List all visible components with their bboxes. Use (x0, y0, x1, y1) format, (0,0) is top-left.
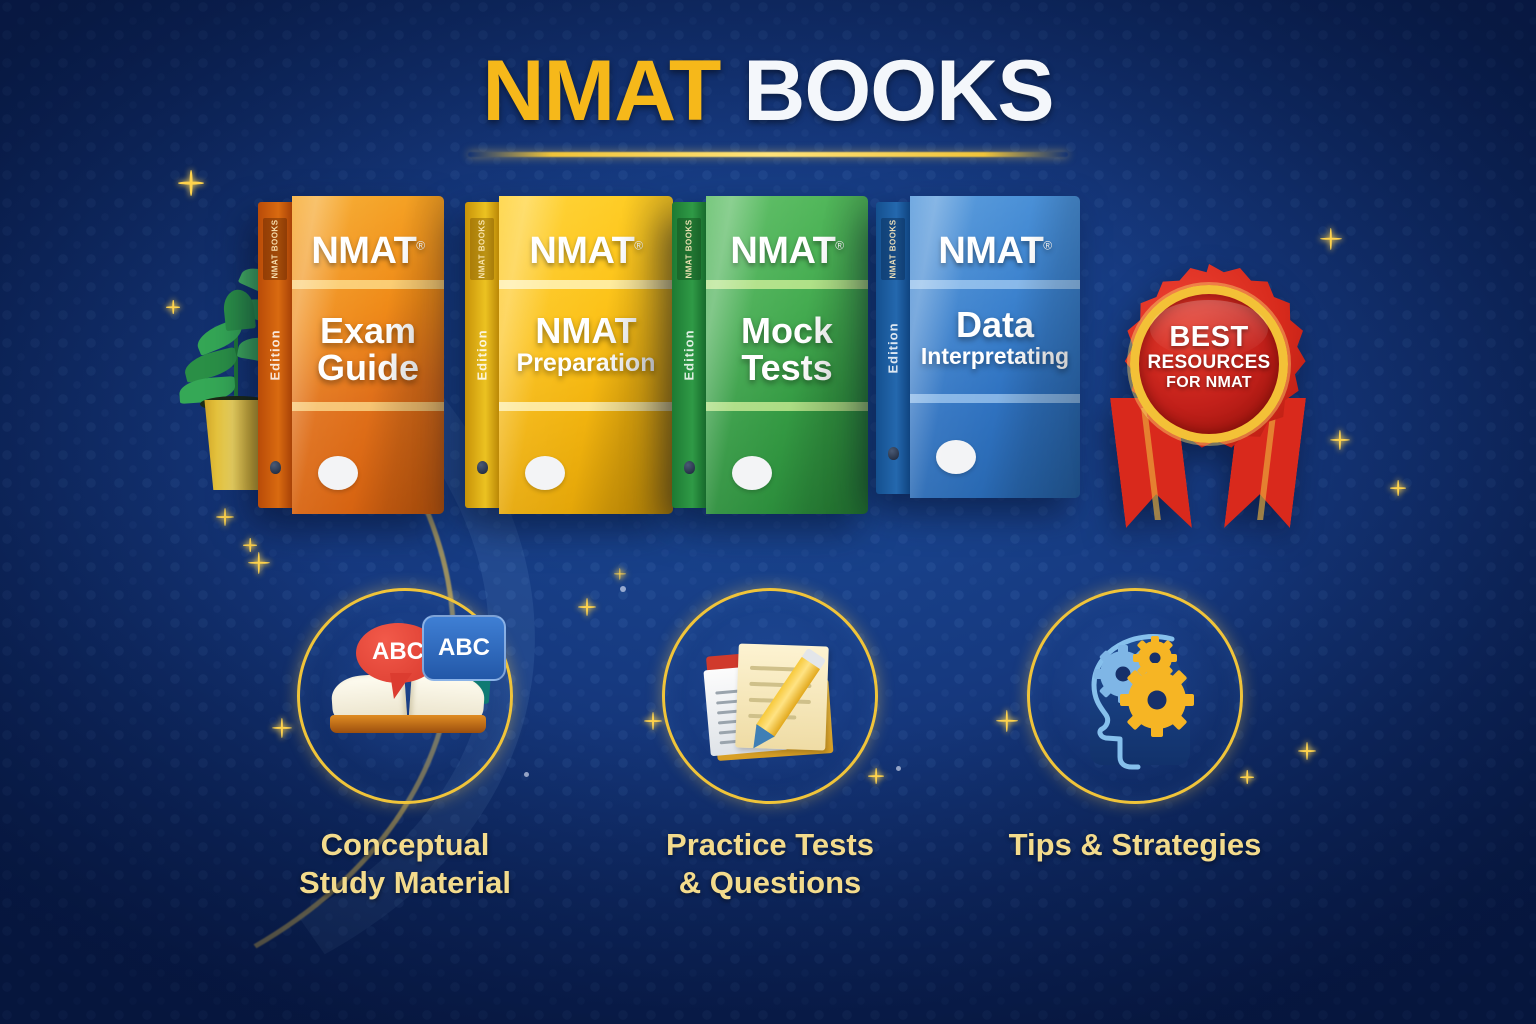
page-title-primary: NMAT (482, 43, 720, 139)
badge-line-2: RESOURCES (1130, 352, 1288, 374)
badge-line-3: FOR NMAT (1130, 374, 1288, 392)
speech-bubble-blue-icon: ABC (422, 615, 506, 681)
feature-label: Conceptual Study Material (255, 826, 555, 902)
gear-hub (1150, 653, 1161, 664)
poster-canvas: NMAT BOOKS NMAT BOOKS Edition (0, 0, 1536, 1024)
book-spine-ring-dot (270, 461, 281, 474)
feature-label: Practice Tests & Questions (620, 826, 920, 902)
feature-label-line1: Practice Tests (620, 826, 920, 864)
book-gloss-overlay (706, 196, 868, 514)
feature-label: Tips & Strategies (985, 826, 1285, 864)
book-cover: NMAT® Exam Guide (292, 196, 444, 514)
book-cover: NMAT® NMAT Preparation (499, 196, 673, 514)
book-spine-ring-dot (477, 461, 488, 474)
page-title-secondary: BOOKS (743, 43, 1053, 139)
feature-label-line2: Study Material (255, 864, 555, 902)
book-spine-label: Edition (682, 329, 697, 380)
feature-practice-tests-questions[interactable]: Practice Tests & Questions (620, 588, 920, 902)
book-cover: NMAT® Mock Tests (706, 196, 868, 514)
book-cover: NMAT® Data Interpretating (910, 196, 1080, 498)
book-spine-badge: NMAT BOOKS (881, 218, 905, 280)
book-spine-label: Edition (475, 329, 490, 380)
book-spine-badge-text: NMAT BOOKS (271, 219, 280, 278)
book-spine: NMAT BOOKS Edition (876, 202, 910, 494)
feature-icon-circle (662, 588, 878, 804)
feature-icon-circle (1027, 588, 1243, 804)
book-spine-badge: NMAT BOOKS (263, 218, 287, 280)
gear-gold-large-icon (1128, 671, 1186, 729)
page-title-block: NMAT BOOKS (0, 48, 1536, 157)
badge-line-1: BEST (1130, 322, 1288, 352)
feature-tips-strategies[interactable]: Tips & Strategies (985, 588, 1285, 864)
book-spine: NMAT BOOKS Edition (465, 202, 499, 508)
feature-label-line2: & Questions (620, 864, 920, 902)
book-spine-badge-text: NMAT BOOKS (478, 219, 487, 278)
feature-row: ABC ABC Conceptual Study Material (0, 588, 1536, 918)
feature-label-line1: Conceptual (255, 826, 555, 864)
book-cover-base (330, 715, 486, 733)
book-spine-badge-text: NMAT BOOKS (685, 219, 694, 278)
gear-hub (1148, 691, 1167, 710)
page-title: NMAT BOOKS (0, 48, 1536, 134)
book-spine-badge-text: NMAT BOOKS (889, 219, 898, 278)
book-spine-label: Edition (268, 329, 283, 380)
speech-bubble-blue-text: ABC (424, 617, 504, 679)
book-spine-badge: NMAT BOOKS (677, 218, 701, 280)
best-resources-badge[interactable]: BEST RESOURCES FOR NMAT (1092, 258, 1326, 538)
book-gloss-overlay (292, 196, 444, 514)
book-spine: NMAT BOOKS Edition (258, 202, 292, 508)
book-spine-ring-dot (888, 447, 899, 460)
head-with-gears-icon (1076, 631, 1202, 771)
feature-icon-circle: ABC ABC (297, 588, 513, 804)
badge-text: BEST RESOURCES FOR NMAT (1130, 322, 1288, 393)
book-spine-ring-dot (684, 461, 695, 474)
book-spine: NMAT BOOKS Edition (672, 202, 706, 508)
papers-with-pencil-icon (705, 639, 841, 763)
book-gloss-overlay (910, 196, 1080, 498)
title-underline-accent (468, 152, 1068, 157)
feature-label-line1: Tips & Strategies (985, 826, 1285, 864)
book-spine-label: Edition (886, 322, 901, 373)
book-gloss-overlay (499, 196, 673, 514)
feature-conceptual-study-material[interactable]: ABC ABC Conceptual Study Material (255, 588, 555, 902)
book-spine-badge: NMAT BOOKS (470, 218, 494, 280)
